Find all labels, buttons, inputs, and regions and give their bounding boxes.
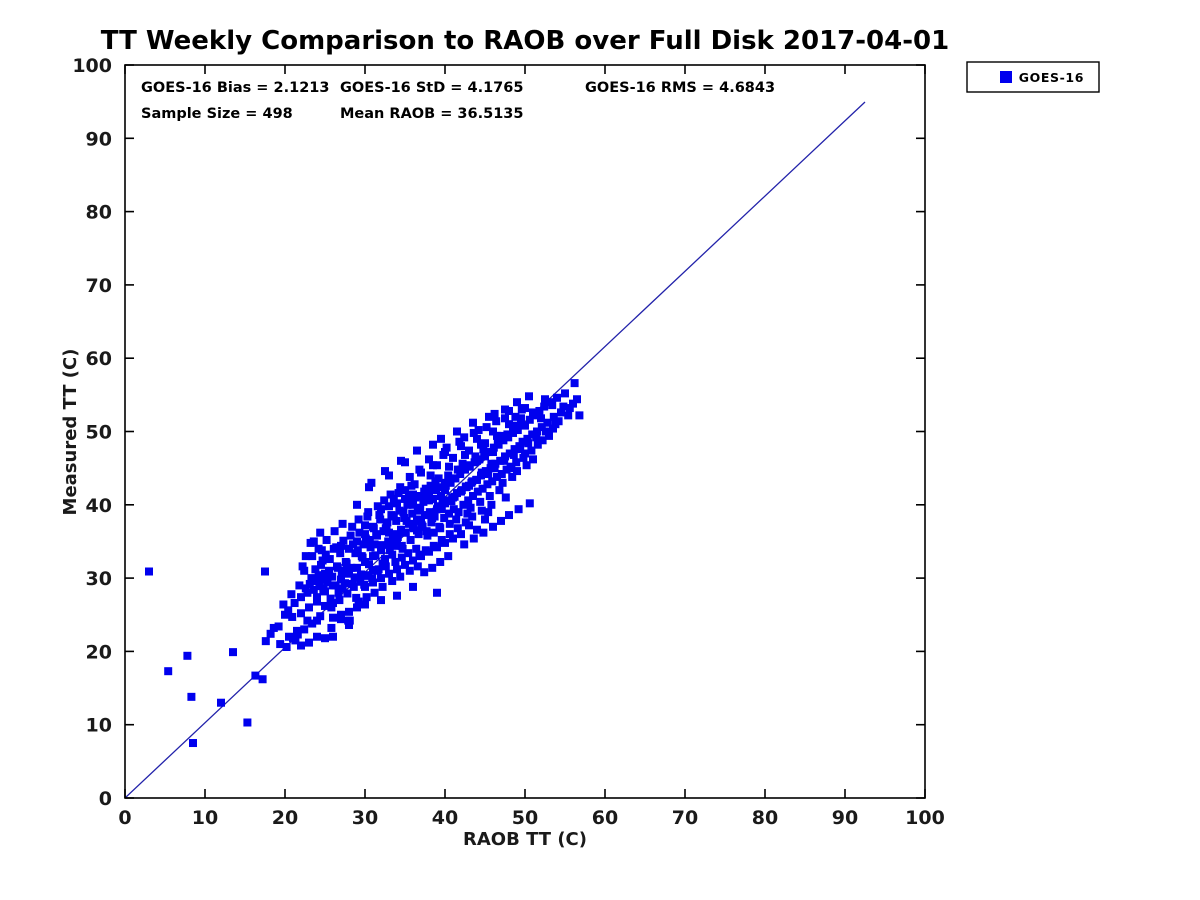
data-point	[393, 592, 401, 600]
legend-label: GOES-16	[1019, 70, 1084, 85]
data-point	[396, 573, 404, 581]
data-point	[337, 615, 345, 623]
data-point	[407, 482, 415, 490]
data-point	[291, 599, 299, 607]
data-point	[303, 589, 311, 597]
y-tick-label: 30	[86, 568, 112, 590]
data-point	[465, 461, 473, 469]
data-point	[433, 483, 441, 491]
data-point	[275, 622, 283, 630]
x-axis-label: RAOB TT (C)	[463, 829, 587, 850]
data-point	[371, 589, 379, 597]
data-point	[481, 452, 489, 460]
data-point	[444, 552, 452, 560]
data-point	[305, 603, 313, 611]
data-point	[377, 546, 385, 554]
data-point	[217, 699, 225, 707]
data-point	[406, 473, 414, 481]
data-point	[297, 609, 305, 617]
data-point	[316, 529, 324, 537]
data-point	[475, 426, 483, 434]
data-point	[485, 413, 493, 421]
data-point	[502, 493, 510, 501]
data-point	[393, 499, 401, 507]
data-point	[505, 407, 513, 415]
data-point	[361, 600, 369, 608]
y-tick-label: 100	[72, 55, 112, 77]
data-point	[509, 422, 517, 430]
data-point	[553, 394, 561, 402]
data-point	[439, 451, 447, 459]
data-point	[331, 527, 339, 535]
data-point	[342, 558, 350, 566]
data-point	[164, 667, 172, 675]
data-point	[428, 564, 436, 572]
scatter-plot: TT Weekly Comparison to RAOB over Full D…	[0, 0, 1200, 900]
data-point	[287, 590, 295, 598]
data-point	[441, 499, 449, 507]
data-point	[460, 433, 468, 441]
data-point	[433, 505, 441, 513]
data-point	[385, 540, 393, 548]
data-point	[297, 642, 305, 650]
data-point	[473, 457, 481, 465]
data-point	[377, 505, 385, 513]
data-point	[505, 511, 513, 519]
data-point	[189, 739, 197, 747]
data-point	[519, 454, 527, 462]
data-point	[529, 408, 537, 416]
data-point	[381, 467, 389, 475]
data-point	[457, 466, 465, 474]
data-point	[363, 593, 371, 601]
data-point	[446, 530, 454, 538]
data-point	[555, 417, 563, 425]
data-point	[315, 545, 323, 553]
data-point	[396, 483, 404, 491]
data-point	[261, 568, 269, 576]
data-point	[486, 492, 494, 500]
data-point	[337, 542, 345, 550]
data-point	[372, 530, 380, 538]
stat-sample-size: Sample Size = 498	[141, 106, 293, 122]
data-point	[310, 537, 318, 545]
data-point	[413, 447, 421, 455]
data-point	[348, 580, 356, 588]
data-point	[293, 627, 301, 635]
data-point	[369, 552, 377, 560]
data-point	[388, 551, 396, 559]
data-point	[436, 558, 444, 566]
data-point	[453, 428, 461, 436]
data-point	[374, 567, 382, 575]
data-point	[329, 581, 337, 589]
data-point	[299, 562, 307, 570]
data-point	[289, 634, 297, 642]
data-point	[183, 652, 191, 660]
y-axis-label: Measured TT (C)	[60, 349, 81, 516]
data-point	[377, 574, 385, 582]
data-point	[267, 630, 275, 638]
data-point	[262, 637, 270, 645]
data-point	[305, 639, 313, 647]
data-point	[348, 523, 356, 531]
data-point	[385, 502, 393, 510]
data-point	[353, 564, 361, 572]
data-point	[415, 466, 423, 474]
data-point	[457, 488, 465, 496]
data-point	[473, 476, 481, 484]
data-point	[449, 454, 457, 462]
stat-bias: GOES-16 Bias = 2.1213	[141, 80, 329, 96]
data-point	[454, 524, 462, 532]
y-tick-label: 20	[86, 641, 112, 663]
data-point	[364, 508, 372, 516]
data-point	[575, 411, 583, 419]
data-point	[339, 584, 347, 592]
data-point	[443, 444, 451, 452]
data-point	[365, 483, 373, 491]
data-point	[353, 501, 361, 509]
x-tick-label: 100	[905, 807, 945, 829]
data-point	[337, 576, 345, 584]
data-point	[526, 499, 534, 507]
x-tick-label: 30	[352, 807, 378, 829]
data-point	[515, 505, 523, 513]
data-point	[441, 479, 449, 487]
x-tick-label: 50	[512, 807, 538, 829]
data-point	[300, 625, 308, 633]
data-point	[361, 530, 369, 538]
x-tick-label: 90	[832, 807, 858, 829]
data-point	[477, 441, 485, 449]
data-point	[335, 596, 343, 604]
data-point	[425, 488, 433, 496]
data-point	[409, 491, 417, 499]
data-point	[409, 523, 417, 531]
data-point	[521, 404, 529, 412]
x-tick-label: 0	[118, 807, 131, 829]
stat-std: GOES-16 StD = 4.1765	[340, 80, 523, 96]
data-point	[495, 486, 503, 494]
data-point	[393, 535, 401, 543]
data-point	[345, 621, 353, 629]
data-point	[313, 593, 321, 601]
data-point	[489, 523, 497, 531]
data-point	[397, 457, 405, 465]
x-tick-label: 10	[192, 807, 218, 829]
data-point	[281, 611, 289, 619]
data-point	[414, 507, 422, 515]
data-point	[470, 535, 478, 543]
data-point	[385, 529, 393, 537]
data-point	[288, 613, 296, 621]
data-point	[369, 523, 377, 531]
data-point	[516, 445, 524, 453]
data-point	[327, 603, 335, 611]
data-point	[465, 482, 473, 490]
y-tick-label: 80	[86, 202, 112, 224]
data-point	[398, 542, 406, 550]
page-title: TT Weekly Comparison to RAOB over Full D…	[101, 26, 949, 56]
data-point	[321, 634, 329, 642]
data-point	[493, 432, 501, 440]
data-point	[329, 614, 337, 622]
data-point	[484, 508, 492, 516]
data-point	[476, 498, 484, 506]
data-point	[548, 401, 556, 409]
data-point	[145, 568, 153, 576]
data-point	[364, 571, 372, 579]
data-point	[377, 596, 385, 604]
data-point	[573, 395, 581, 403]
data-point	[479, 529, 487, 537]
x-tick-label: 20	[272, 807, 298, 829]
data-point	[491, 464, 499, 472]
data-point	[564, 411, 572, 419]
data-point	[187, 693, 195, 701]
y-tick-label: 70	[86, 275, 112, 297]
data-point	[295, 581, 303, 589]
data-point	[313, 633, 321, 641]
data-point	[500, 457, 508, 465]
x-tick-label: 80	[752, 807, 778, 829]
y-tick-label: 40	[86, 495, 112, 517]
data-point	[401, 529, 409, 537]
legend-marker-swatch	[1000, 71, 1012, 83]
data-point	[417, 492, 425, 500]
data-point	[329, 633, 337, 641]
data-point	[433, 589, 441, 597]
data-point	[497, 517, 505, 525]
x-tick-label: 40	[432, 807, 458, 829]
data-point	[449, 493, 457, 501]
data-point	[339, 520, 347, 528]
data-point	[345, 545, 353, 553]
data-point	[229, 648, 237, 656]
data-point	[385, 570, 393, 578]
data-point	[525, 392, 533, 400]
data-point	[415, 551, 423, 559]
data-point	[571, 379, 579, 387]
data-point	[321, 587, 329, 595]
data-point	[316, 612, 324, 620]
data-point	[524, 439, 532, 447]
data-point	[455, 508, 463, 516]
data-point	[323, 536, 331, 544]
data-point	[406, 567, 414, 575]
data-point	[517, 414, 525, 422]
data-point	[279, 600, 287, 608]
data-point	[549, 425, 557, 433]
data-point	[441, 486, 449, 494]
data-point	[391, 558, 399, 566]
data-point	[326, 555, 334, 563]
y-tick-label: 90	[86, 128, 112, 150]
data-point	[469, 419, 477, 427]
data-point	[537, 414, 545, 422]
data-point	[417, 517, 425, 525]
y-tick-label: 50	[86, 422, 112, 444]
data-point	[393, 565, 401, 573]
data-point	[429, 461, 437, 469]
data-point	[401, 495, 409, 503]
data-point	[507, 464, 515, 472]
data-point	[425, 511, 433, 519]
data-point	[460, 540, 468, 548]
data-point	[327, 624, 335, 632]
data-point	[529, 455, 537, 463]
data-point	[345, 570, 353, 578]
data-point	[446, 520, 454, 528]
data-point	[361, 558, 369, 566]
stat-mean-raob: Mean RAOB = 36.5135	[340, 106, 523, 122]
data-point	[251, 672, 259, 680]
data-point	[382, 562, 390, 570]
x-tick-label: 70	[672, 807, 698, 829]
data-point	[361, 521, 369, 529]
data-point	[492, 417, 500, 425]
data-point	[468, 513, 476, 521]
data-point	[449, 474, 457, 482]
data-point	[345, 608, 353, 616]
data-point	[487, 501, 495, 509]
data-point	[409, 583, 417, 591]
data-point	[513, 398, 521, 406]
y-tick-label: 10	[86, 715, 112, 737]
data-point	[483, 423, 491, 431]
data-point	[353, 537, 361, 545]
data-point	[379, 583, 387, 591]
data-point	[420, 568, 428, 576]
data-point	[501, 414, 509, 422]
data-point	[399, 508, 407, 516]
data-point	[545, 432, 553, 440]
data-point	[559, 403, 567, 411]
legend[interactable]: GOES-16	[967, 62, 1099, 92]
data-point	[423, 532, 431, 540]
data-point	[243, 719, 251, 727]
y-tick-label: 60	[86, 348, 112, 370]
data-point	[388, 577, 396, 585]
data-point	[302, 552, 310, 560]
data-point	[489, 448, 497, 456]
y-tick-label: 0	[99, 788, 112, 810]
x-tick-label: 60	[592, 807, 618, 829]
data-point	[499, 479, 507, 487]
data-point	[437, 435, 445, 443]
data-point	[461, 451, 469, 459]
data-point	[438, 536, 446, 544]
plot-background	[0, 0, 1200, 900]
data-point	[308, 620, 316, 628]
data-point	[430, 542, 438, 550]
chart-page: TT Weekly Comparison to RAOB over Full D…	[0, 0, 1200, 900]
data-point	[481, 515, 489, 523]
data-point	[503, 430, 511, 438]
data-point	[445, 463, 453, 471]
data-point	[427, 471, 435, 479]
stat-rms: GOES-16 RMS = 4.6843	[585, 80, 775, 96]
data-point	[429, 441, 437, 449]
data-point	[561, 389, 569, 397]
data-point	[283, 643, 291, 651]
data-point	[425, 496, 433, 504]
data-point	[356, 576, 364, 584]
data-point	[324, 573, 332, 581]
data-point	[407, 536, 415, 544]
data-point	[259, 675, 267, 683]
data-point	[541, 395, 549, 403]
